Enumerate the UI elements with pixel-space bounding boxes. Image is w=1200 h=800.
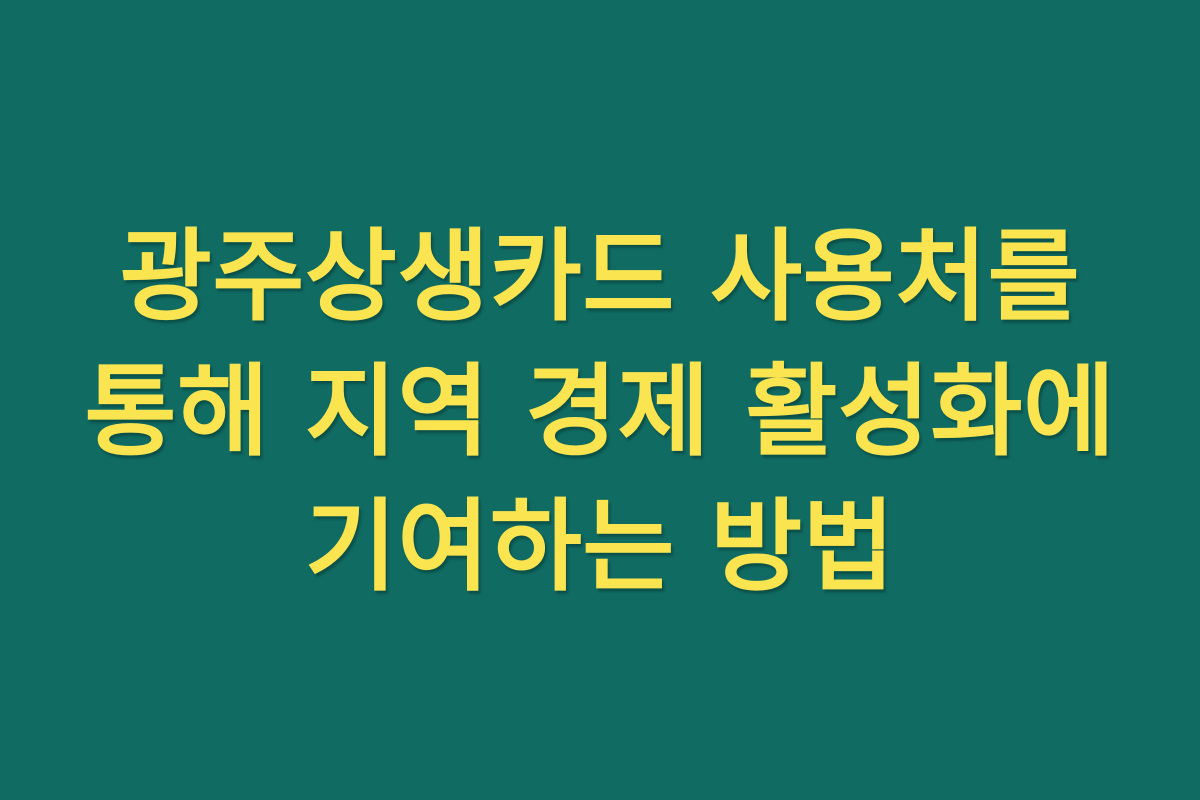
headline-line-3: 기여하는 방법 xyxy=(40,479,1160,614)
headline-line-2: 통해 지역 경제 활성화에 xyxy=(40,344,1160,479)
headline-block: 광주상생카드 사용처를 통해 지역 경제 활성화에 기여하는 방법 xyxy=(40,209,1160,614)
headline-line-1: 광주상생카드 사용처를 xyxy=(40,209,1160,344)
banner-root: 광주상생카드 사용처를 통해 지역 경제 활성화에 기여하는 방법 xyxy=(0,0,1200,800)
